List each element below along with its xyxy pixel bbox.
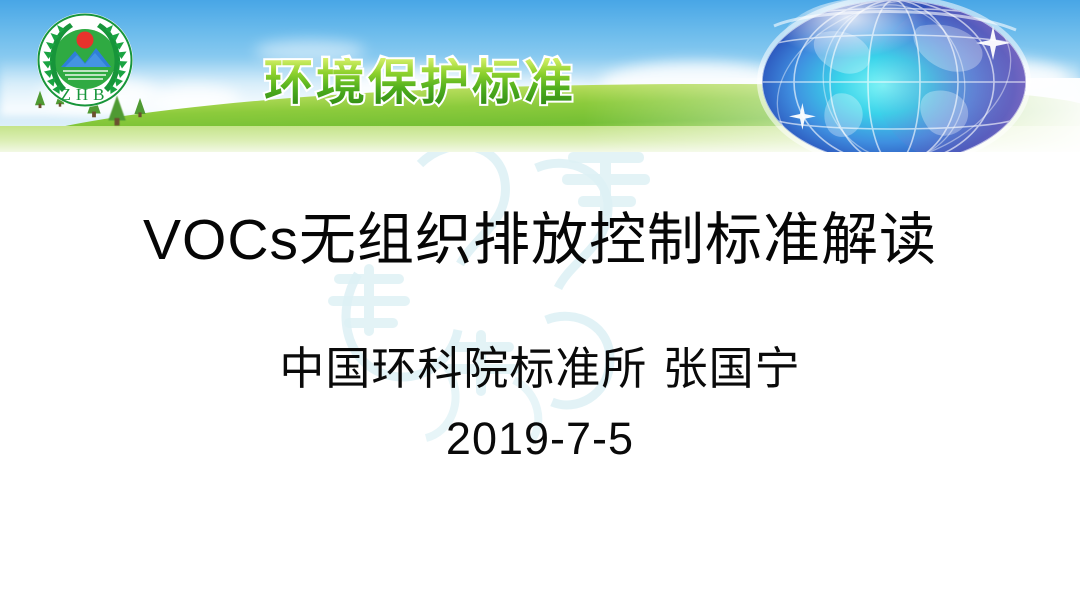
globe-icon — [744, 0, 1044, 152]
presenter-line: 中国环科院标准所 张国宁 — [0, 270, 1080, 394]
presentation-slide: ZHB 环境保护标准 环境保护标准 — [0, 0, 1080, 607]
slide-content: VOCs无组织排放控制标准解读 中国环科院标准所 张国宁 2019-7-5 — [0, 152, 1080, 463]
page-title: VOCs无组织排放控制标准解读 — [0, 152, 1080, 270]
slide-body: VOCs无组织排放控制标准解读 中国环科院标准所 张国宁 2019-7-5 — [0, 152, 1080, 607]
slide-banner: ZHB 环境保护标准 环境保护标准 — [0, 0, 1080, 152]
presentation-date: 2019-7-5 — [0, 394, 1080, 464]
